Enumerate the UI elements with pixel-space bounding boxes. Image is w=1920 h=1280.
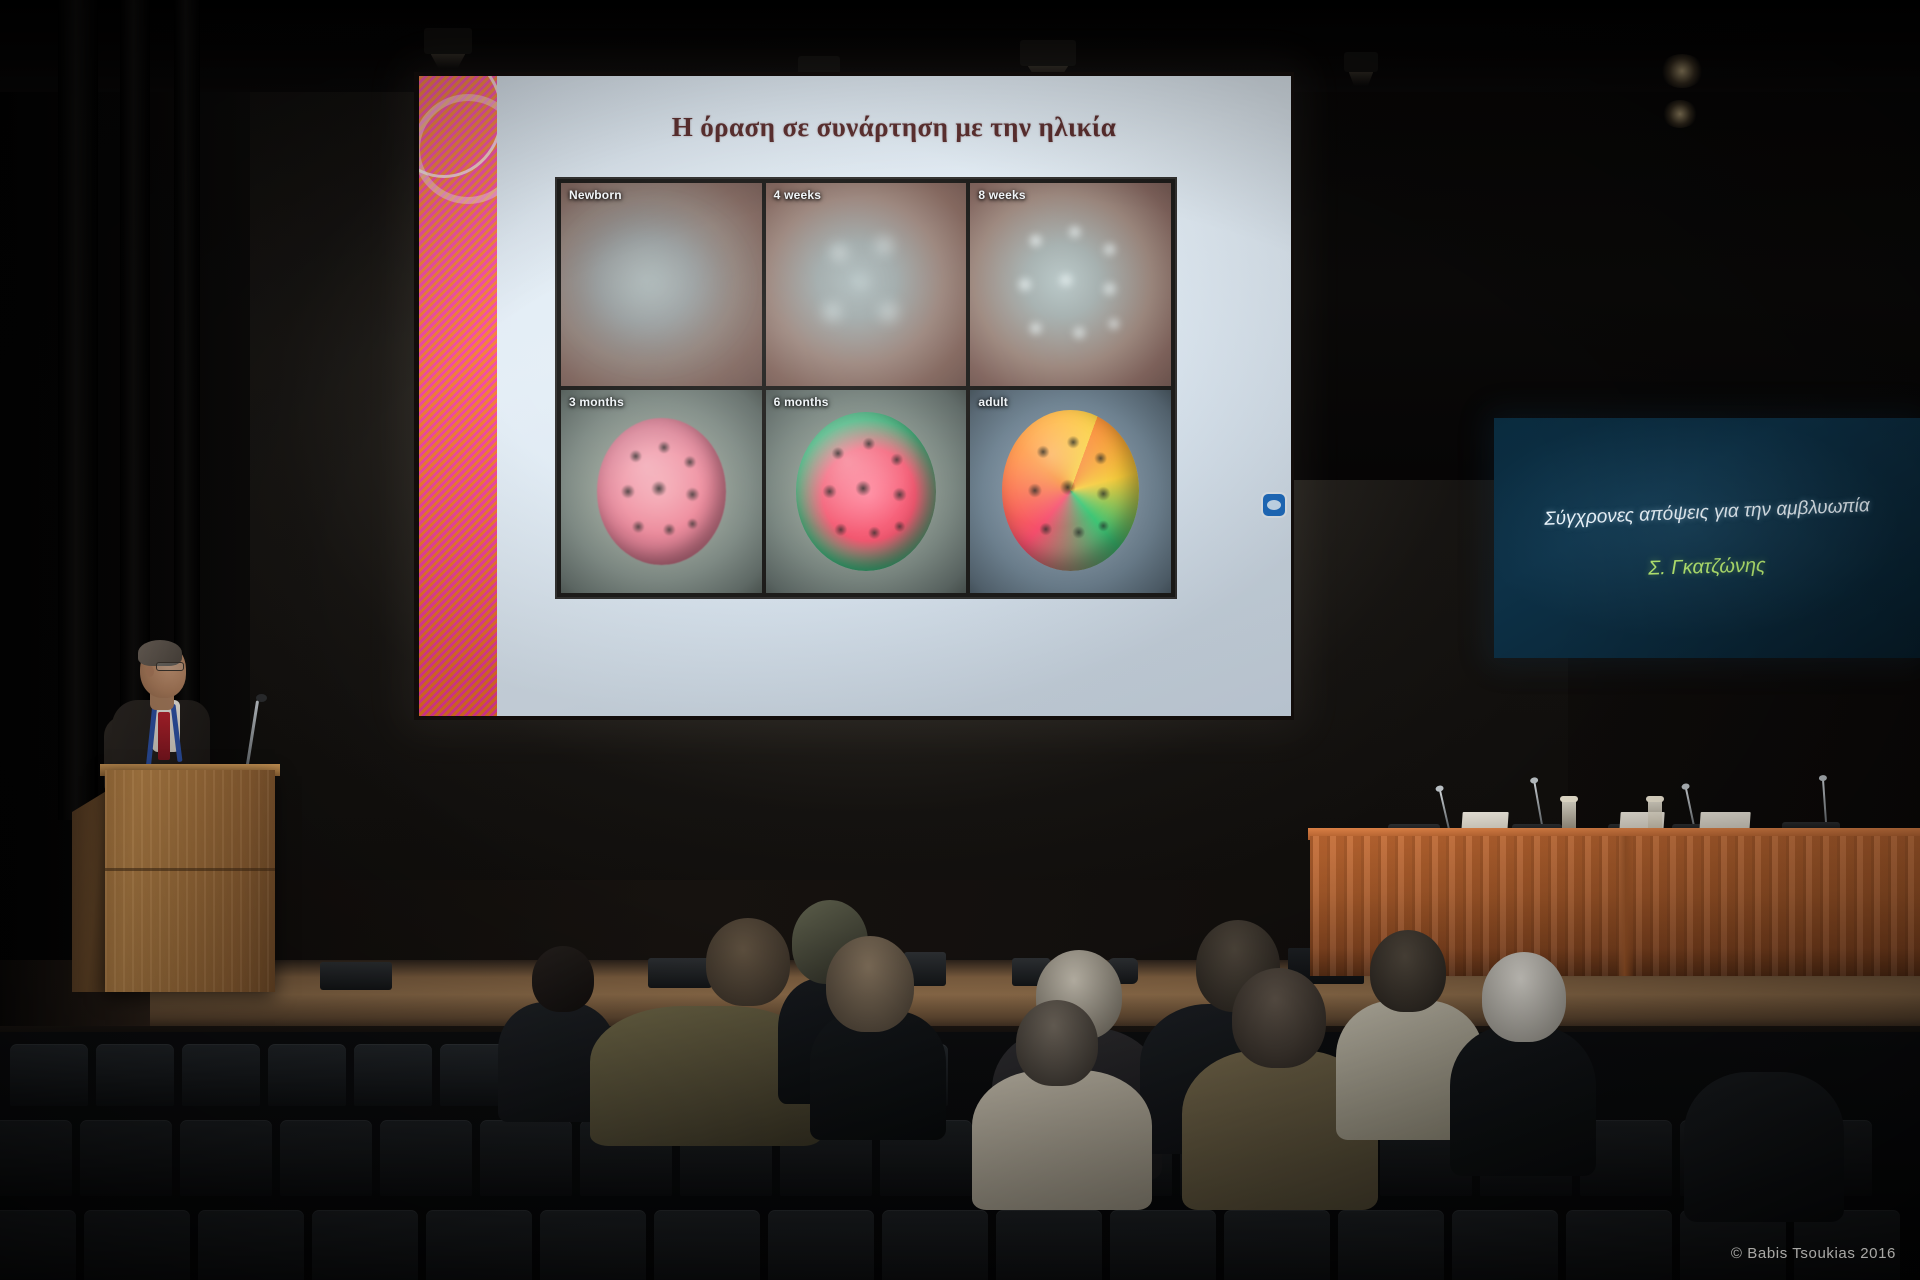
seat[interactable] — [312, 1210, 418, 1280]
toy-ball-3-months — [597, 418, 725, 564]
lectern-seam — [105, 868, 275, 871]
audience-member-torso — [972, 1070, 1152, 1210]
slide-logo-icon — [1263, 494, 1285, 516]
panel-water-glass-2 — [1648, 800, 1662, 830]
seat[interactable] — [654, 1210, 760, 1280]
seat[interactable] — [198, 1210, 304, 1280]
stage-light-4 — [1344, 52, 1378, 72]
grid-cell-adult: adult — [970, 390, 1171, 593]
seat[interactable] — [280, 1120, 372, 1196]
stage-light-1 — [424, 28, 472, 54]
grid-cell-6-months: 6 months — [766, 390, 967, 593]
seat[interactable] — [426, 1210, 532, 1280]
seat[interactable] — [84, 1210, 190, 1280]
lectern-side-panel — [72, 790, 108, 992]
slide-deco-ring-thin — [419, 76, 497, 178]
grid-cell-label: Newborn — [569, 188, 622, 202]
seat[interactable] — [96, 1044, 174, 1106]
grid-cell-4-weeks: 4 weeks — [766, 183, 967, 386]
stage-light-3 — [1020, 40, 1076, 66]
grid-cell-8-weeks: 8 weeks — [970, 183, 1171, 386]
grid-cell-label: 6 months — [774, 395, 829, 409]
seat[interactable] — [882, 1210, 988, 1280]
seat[interactable] — [1110, 1210, 1216, 1280]
slide-deco-ring-large — [419, 94, 497, 204]
grid-cell-label: 3 months — [569, 395, 624, 409]
floor-monitor-2 — [648, 958, 712, 988]
spotlight-glow-2 — [1662, 100, 1698, 128]
audience-member-head — [1370, 930, 1446, 1012]
seat[interactable] — [354, 1044, 432, 1106]
seat[interactable] — [10, 1044, 88, 1106]
seat[interactable] — [268, 1044, 346, 1106]
seat[interactable] — [996, 1210, 1102, 1280]
seat[interactable] — [768, 1210, 874, 1280]
seat[interactable] — [182, 1044, 260, 1106]
seat[interactable] — [0, 1120, 72, 1196]
copyright-watermark: © Babis Tsoukias 2016 — [1731, 1245, 1896, 1262]
panel-water-glass-1 — [1562, 800, 1576, 830]
seat[interactable] — [480, 1120, 572, 1196]
toy-ball-adult — [1002, 410, 1138, 570]
seat[interactable] — [0, 1210, 76, 1280]
grid-cell-label: adult — [978, 395, 1008, 409]
seat[interactable] — [1224, 1210, 1330, 1280]
audience-seating-area — [0, 1032, 1920, 1280]
grid-cell-label: 8 weeks — [978, 188, 1025, 202]
secondary-display[interactable]: Σύγχρονες απόψεις για την αμβλυωπία Σ. Γ… — [1494, 418, 1920, 658]
slide-photo-grid: Newborn 4 weeks 8 weeks 3 months 6 month… — [557, 179, 1175, 597]
seat[interactable] — [540, 1210, 646, 1280]
podium-microphone-head — [256, 694, 267, 702]
slide-title: Η όραση σε συνάρτηση με την ηλικία — [497, 112, 1291, 143]
curtain-strip-2 — [120, 0, 150, 820]
floor-monitor-1 — [320, 962, 392, 990]
seat[interactable] — [1566, 1210, 1672, 1280]
audience-member-head — [1482, 952, 1566, 1042]
secondary-display-speaker-name: Σ. Γκατζώνης — [1494, 550, 1920, 585]
curtain-strip-1 — [58, 0, 98, 820]
seat[interactable] — [380, 1120, 472, 1196]
panel-table-skirt-seam — [1616, 836, 1634, 976]
seat[interactable] — [1452, 1210, 1558, 1280]
audience-member-head — [1016, 1000, 1098, 1086]
audience-member-head — [706, 918, 790, 1006]
grid-cell-newborn: Newborn — [561, 183, 762, 386]
audience-member-head — [532, 946, 594, 1012]
secondary-display-title: Σύγχρονες απόψεις για την αμβλυωπία — [1494, 493, 1920, 533]
audience-member-torso — [1450, 1026, 1596, 1176]
audience-member-torso — [1684, 1072, 1844, 1222]
grid-cell-label: 4 weeks — [774, 188, 821, 202]
curtain-strip-3 — [174, 0, 200, 820]
audience-member-head — [826, 936, 914, 1032]
seat[interactable] — [80, 1120, 172, 1196]
slide-accent-bar — [419, 76, 497, 716]
speaker-tie — [158, 712, 170, 760]
audience-member-head — [1232, 968, 1326, 1068]
speaker-glasses-icon — [156, 662, 184, 671]
grid-cell-3-months: 3 months — [561, 390, 762, 593]
spotlight-glow-1 — [1660, 54, 1704, 88]
speaker-ear — [146, 666, 154, 677]
lecture-hall-scene: Η όραση σε συνάρτηση με την ηλικία Newbo… — [0, 0, 1920, 1280]
projection-screen[interactable]: Η όραση σε συνάρτηση με την ηλικία Newbo… — [419, 76, 1291, 716]
seat[interactable] — [1338, 1210, 1444, 1280]
lectern — [105, 770, 275, 992]
toy-ball-6-months — [796, 412, 936, 570]
seat[interactable] — [180, 1120, 272, 1196]
